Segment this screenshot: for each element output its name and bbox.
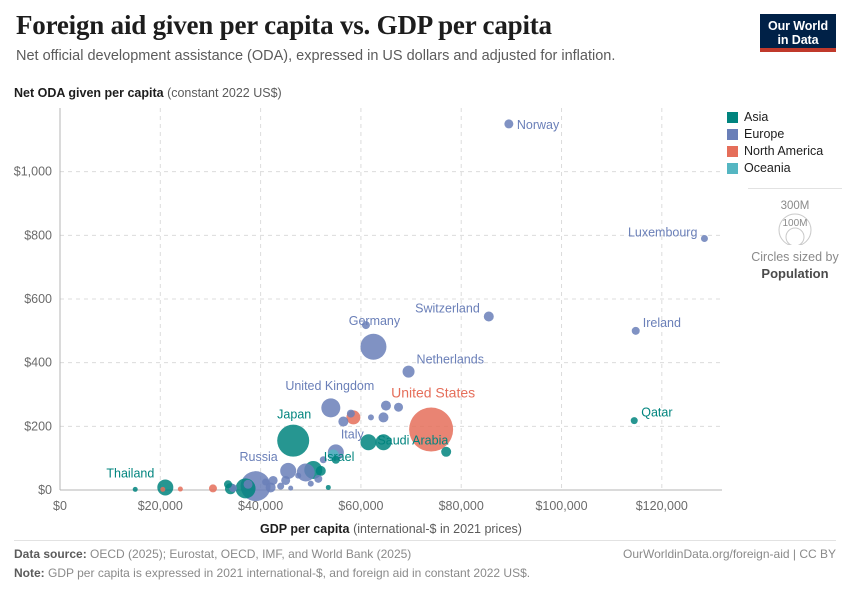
footer-source: Data source: OECD (2025); Eurostat, OECD… [14, 545, 411, 564]
data-point-label: Thailand [106, 466, 154, 480]
data-point[interactable] [394, 403, 403, 412]
x-tick-label: $120,000 [636, 499, 688, 513]
data-point[interactable] [314, 475, 322, 483]
data-point-label: United Kingdom [285, 379, 374, 393]
data-point-label: United States [391, 385, 475, 401]
x-tick-label: $60,000 [338, 499, 383, 513]
data-point[interactable] [160, 487, 165, 492]
data-point-label: Qatar [641, 406, 672, 420]
data-point[interactable] [280, 463, 296, 479]
data-point[interactable] [244, 480, 253, 489]
data-point[interactable] [381, 401, 391, 411]
data-point-label: Russia [239, 450, 277, 464]
size-legend-caption: Circles sized by Population [740, 250, 850, 282]
data-point[interactable] [321, 398, 340, 417]
footer-note: Note: GDP per capita is expressed in 202… [14, 564, 836, 583]
data-point[interactable] [277, 483, 284, 490]
data-point[interactable] [484, 312, 494, 322]
legend-item-europe[interactable]: Europe [727, 127, 847, 141]
x-tick-label: $100,000 [535, 499, 587, 513]
legend-item-north-america[interactable]: North America [727, 144, 847, 158]
chart-footer: Data source: OECD (2025); Eurostat, OECD… [14, 545, 836, 582]
data-point-labels: NorwayLuxembourgSwitzerlandIrelandGerman… [106, 118, 697, 481]
chart-root: Foreign aid given per capita vs. GDP per… [0, 0, 850, 600]
footer-note-text: GDP per capita is expressed in 2021 inte… [48, 566, 530, 580]
size-legend-outer-label: 300M [781, 200, 810, 212]
data-point[interactable] [347, 410, 355, 418]
plot-area: $0$200$400$600$800$1,000 $0$20,000$40,00… [0, 0, 850, 600]
footer-source-label: Data source: [14, 547, 87, 561]
data-point-label: Norway [517, 118, 560, 132]
legend-item-asia[interactable]: Asia [727, 110, 847, 124]
legend-swatch-icon [727, 129, 738, 140]
size-legend-caption-line1: Circles sized by [740, 250, 850, 266]
x-axis-title-light: (international-$ in 2021 prices) [353, 522, 522, 536]
data-point[interactable] [360, 334, 386, 360]
data-point[interactable] [224, 480, 232, 488]
data-point[interactable] [326, 485, 331, 490]
data-point[interactable] [378, 412, 388, 422]
data-point[interactable] [441, 447, 451, 457]
x-axis-title-bold: GDP per capita [260, 522, 350, 536]
size-legend-inner-label: 100M [782, 218, 807, 229]
data-point[interactable] [269, 476, 278, 485]
data-point[interactable] [701, 235, 708, 242]
legend-item-label: North America [744, 144, 823, 158]
size-legend-inner-circle [786, 228, 804, 245]
x-tick-label: $0 [53, 499, 67, 513]
data-point-label: Japan [277, 408, 311, 422]
size-legend-circles: 300M 100M [740, 199, 850, 245]
legend-swatch-icon [727, 112, 738, 123]
data-point[interactable] [632, 327, 640, 335]
data-point[interactable] [403, 366, 415, 378]
footer-note-label: Note: [14, 566, 45, 580]
x-axis-ticks: $0$20,000$40,000$60,000$80,000$100,000$1… [53, 499, 688, 513]
y-axis-ticks: $0$200$400$600$800$1,000 [14, 165, 52, 497]
data-point-label: Saudi Arabia [377, 433, 448, 447]
data-point[interactable] [262, 479, 269, 486]
x-tick-label: $80,000 [439, 499, 484, 513]
y-tick-label: $800 [24, 228, 52, 242]
data-point[interactable] [133, 487, 138, 492]
legend-item-oceania[interactable]: Oceania [727, 161, 847, 175]
legend-item-label: Europe [744, 127, 784, 141]
data-point-label: Luxembourg [628, 226, 698, 240]
data-point-label: Germany [349, 314, 401, 328]
data-point[interactable] [504, 119, 513, 128]
data-point[interactable] [297, 463, 315, 481]
y-tick-label: $0 [38, 483, 52, 497]
footer-link[interactable]: OurWorldinData.org/foreign-aid | CC BY [623, 545, 836, 564]
size-legend: 300M 100M Circles sized by Population [740, 188, 850, 282]
data-point[interactable] [631, 417, 638, 424]
data-point[interactable] [157, 479, 173, 495]
y-tick-label: $400 [24, 356, 52, 370]
legend-divider [748, 188, 842, 189]
data-point[interactable] [277, 425, 309, 457]
size-legend-caption-line2: Population [761, 266, 828, 281]
footer-source-row: Data source: OECD (2025); Eurostat, OECD… [14, 545, 836, 564]
x-axis-title: GDP per capita (international-$ in 2021 … [260, 522, 522, 536]
legend-swatch-icon [727, 163, 738, 174]
footer-source-text: OECD (2025); Eurostat, OECD, IMF, and Wo… [90, 547, 411, 561]
data-point[interactable] [368, 414, 374, 420]
data-point[interactable] [209, 484, 217, 492]
data-point-label: Israel [324, 450, 355, 464]
legend-swatch-icon [727, 146, 738, 157]
scatter-plot-svg: $0$200$400$600$800$1,000 $0$20,000$40,00… [0, 0, 850, 600]
x-tick-label: $20,000 [138, 499, 183, 513]
data-point[interactable] [295, 473, 301, 479]
data-point[interactable] [288, 486, 293, 491]
continent-legend[interactable]: AsiaEuropeNorth AmericaOceania [727, 110, 847, 178]
data-point-label: Ireland [643, 316, 681, 330]
data-point[interactable] [316, 466, 326, 476]
data-point[interactable] [178, 487, 183, 492]
y-tick-label: $200 [24, 419, 52, 433]
data-point[interactable] [308, 481, 314, 487]
y-tick-label: $1,000 [14, 165, 52, 179]
data-point-label: Switzerland [415, 302, 480, 316]
footer-divider [14, 540, 836, 541]
data-point[interactable] [338, 417, 348, 427]
legend-item-label: Asia [744, 110, 768, 124]
y-tick-label: $600 [24, 292, 52, 306]
data-point-label: Netherlands [417, 353, 484, 367]
x-tick-label: $40,000 [238, 499, 283, 513]
legend-item-label: Oceania [744, 161, 791, 175]
data-point-label: Italy [341, 427, 365, 441]
